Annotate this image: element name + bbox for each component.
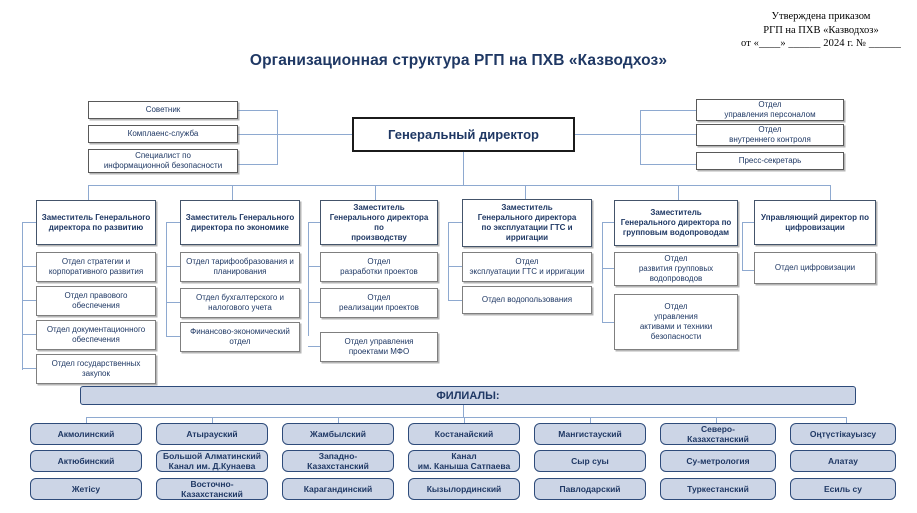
connector-stub-c4-1 <box>448 266 462 267</box>
branch-chip[interactable]: Западно- Казахстанский <box>282 450 394 472</box>
connector-spine-col2 <box>166 222 167 336</box>
connector-col-drop-5 <box>678 185 679 200</box>
right-unit-box-3[interactable]: Пресс-секретарь <box>696 152 844 170</box>
connector-director-to-right <box>574 134 640 135</box>
dept-label-4-2: Отдел водопользования <box>482 295 572 305</box>
branch-chip[interactable]: Оңтүстікауызсу <box>790 423 896 445</box>
right-unit-label-2: Отдел внутреннего контроля <box>729 125 811 145</box>
deputy-head-5[interactable]: Заместитель Генерального директора по гр… <box>614 200 738 246</box>
dept-box-4-2[interactable]: Отдел водопользования <box>462 286 592 314</box>
branch-label: Костанайский <box>435 429 493 439</box>
connector-branch-bus <box>86 417 846 418</box>
right-unit-label-1: Отдел управления персоналом <box>724 100 815 120</box>
advisor-box-3[interactable]: Специалист по информационной безопасност… <box>88 149 238 173</box>
dept-box-1-1[interactable]: Отдел стратегии и корпоративного развити… <box>36 252 156 282</box>
connector-right-1 <box>640 110 696 111</box>
connector-col-drop-2 <box>232 185 233 200</box>
advisor-label-3: Специалист по информационной безопасност… <box>104 151 222 171</box>
connector-stub-c4-2 <box>448 300 462 301</box>
deputy-head-1[interactable]: Заместитель Генерального директора по ра… <box>36 200 156 245</box>
connector-stub-c6-1 <box>742 270 754 271</box>
branch-chip[interactable]: Туркестанский <box>660 478 776 500</box>
branch-label: Акмолинский <box>58 429 115 439</box>
branch-chip[interactable]: Атырауский <box>156 423 268 445</box>
dept-box-3-1[interactable]: Отдел разработки проектов <box>320 252 438 282</box>
connector-stub-c3-0 <box>308 222 320 223</box>
branch-label: Актюбинский <box>58 456 115 466</box>
dept-box-1-4[interactable]: Отдел государственных закупок <box>36 354 156 384</box>
branch-label: Атырауский <box>186 429 237 439</box>
branch-chip[interactable]: Костанайский <box>408 423 520 445</box>
branch-chip[interactable]: Есиль су <box>790 478 896 500</box>
deputy-head-label-4: Заместитель Генерального директора по эк… <box>478 203 577 243</box>
dept-label-3-1: Отдел разработки проектов <box>340 257 418 277</box>
connector-stub-c2-3 <box>166 336 180 337</box>
dept-box-5-2[interactable]: Отдел управления активами и техники безо… <box>614 294 738 350</box>
connector-filialy-down <box>463 404 464 418</box>
right-unit-label-3: Пресс-секретарь <box>739 156 802 166</box>
connector-stub-c3-2 <box>308 302 320 303</box>
dept-label-5-2: Отдел управления активами и техники безо… <box>640 302 712 342</box>
branches-banner: ФИЛИАЛЫ: <box>80 386 856 405</box>
dept-label-6-1: Отдел цифровизации <box>775 263 855 273</box>
connector-col-drop-6 <box>830 185 831 200</box>
connector-stub-c5-2 <box>602 322 614 323</box>
connector-stub-c2-0 <box>166 222 180 223</box>
deputy-head-2[interactable]: Заместитель Генерального директора по эк… <box>180 200 300 245</box>
dept-box-6-1[interactable]: Отдел цифровизации <box>754 252 876 284</box>
branch-label: Жетісу <box>72 484 100 494</box>
approval-line-3: от «____» ______ 2024 г. № ______ <box>741 37 901 51</box>
dept-box-2-2[interactable]: Отдел бухгалтерского и налогового учета <box>180 288 300 318</box>
connector-advisor-3 <box>237 164 278 165</box>
branch-chip[interactable]: Сыр суы <box>534 450 646 472</box>
branch-chip[interactable]: Жамбылский <box>282 423 394 445</box>
connector-stub-c5-1 <box>602 268 614 269</box>
general-director-box[interactable]: Генеральный директор <box>352 117 575 152</box>
branch-chip[interactable]: Северо- Казахстанский <box>660 423 776 445</box>
branch-label: Восточно- Казахстанский <box>181 479 243 499</box>
branch-label: Су-метрология <box>686 456 749 466</box>
connector-right-2 <box>640 134 696 135</box>
right-unit-box-1[interactable]: Отдел управления персоналом <box>696 99 844 121</box>
approval-line-2: РГП на ПХВ «Казводхоз» <box>741 24 901 38</box>
page-title: Организационная структура РГП на ПХВ «Ка… <box>0 52 917 70</box>
connector-left-spine <box>277 110 278 165</box>
connector-spine-col1 <box>22 222 23 370</box>
connector-stub-c3-1 <box>308 266 320 267</box>
deputy-head-label-2: Заместитель Генерального директора по эк… <box>186 213 295 233</box>
connector-spine-col3 <box>308 222 309 336</box>
connector-stub-c2-1 <box>166 266 180 267</box>
connector-director-down <box>463 152 464 185</box>
connector-stub-c1-4 <box>22 368 36 369</box>
connector-stub-c4-0 <box>448 222 462 223</box>
connector-spine-col6 <box>742 222 743 270</box>
branch-chip[interactable]: Восточно- Казахстанский <box>156 478 268 500</box>
dept-label-3-2: Отдел реализации проектов <box>339 293 419 313</box>
deputy-head-3[interactable]: Заместитель Генерального директора по пр… <box>320 200 438 245</box>
branch-label: Северо- Казахстанский <box>687 424 749 444</box>
right-unit-box-2[interactable]: Отдел внутреннего контроля <box>696 124 844 146</box>
deputy-head-label-6: Управляющий директор по цифровизации <box>761 213 869 233</box>
branch-label: Канал им. Каныша Сатпаева <box>418 451 510 471</box>
branch-chip[interactable]: Су-метрология <box>660 450 776 472</box>
deputy-head-6[interactable]: Управляющий директор по цифровизации <box>754 200 876 245</box>
dept-box-1-3[interactable]: Отдел документационного обеспечения <box>36 320 156 350</box>
deputy-head-label-5: Заместитель Генерального директора по гр… <box>621 208 732 238</box>
branch-chip[interactable]: Мангистауский <box>534 423 646 445</box>
connector-right-3 <box>640 164 696 165</box>
connector-stub-c2-2 <box>166 302 180 303</box>
branch-chip[interactable]: Карагандинский <box>282 478 394 500</box>
dept-label-1-4: Отдел государственных закупок <box>52 359 141 379</box>
dept-box-2-1[interactable]: Отдел тарифообразования и планирования <box>180 252 300 282</box>
branch-label: Карагандинский <box>304 484 373 494</box>
dept-label-1-1: Отдел стратегии и корпоративного развити… <box>49 257 143 277</box>
connector-spine-col4 <box>448 222 449 300</box>
connector-advisor-2 <box>237 134 278 135</box>
dept-box-3-3[interactable]: Отдел управления проектами МФО <box>320 332 438 362</box>
dept-box-5-1[interactable]: Отдел развития групповых водопроводов <box>614 252 738 286</box>
deputy-head-4[interactable]: Заместитель Генерального директора по эк… <box>462 199 592 247</box>
connector-stub-c5-0 <box>602 222 614 223</box>
branch-label: Мангистауский <box>558 429 621 439</box>
branch-label: Павлодарский <box>559 484 620 494</box>
dept-label-2-2: Отдел бухгалтерского и налогового учета <box>196 293 284 313</box>
connector-left-to-director <box>277 134 352 135</box>
connector-stub-c1-0 <box>22 222 36 223</box>
branch-chip[interactable]: Большой Алматинский Канал им. Д.Кунаева <box>156 450 268 472</box>
branch-chip[interactable]: Кызылординский <box>408 478 520 500</box>
connector-stub-c1-3 <box>22 334 36 335</box>
connector-stub-c6-0 <box>742 222 754 223</box>
branch-chip[interactable]: Актюбинский <box>30 450 142 472</box>
dept-label-1-3: Отдел документационного обеспечения <box>47 325 145 345</box>
branch-label: Оңтүстікауызсу <box>810 429 876 439</box>
connector-spine-col5 <box>602 222 603 322</box>
dept-label-5-1: Отдел развития групповых водопроводов <box>639 254 713 284</box>
branch-label: Кызылординский <box>427 484 502 494</box>
branch-chip[interactable]: Канал им. Каныша Сатпаева <box>408 450 520 472</box>
general-director-label: Генеральный директор <box>388 130 539 140</box>
branch-label: Есиль су <box>824 484 862 494</box>
deputy-head-label-1: Заместитель Генерального директора по ра… <box>42 213 151 233</box>
dept-label-3-3: Отдел управления проектами МФО <box>345 337 414 357</box>
connector-stub-c1-1 <box>22 266 36 267</box>
approval-header: Утверждена приказом РГП на ПХВ «Казводхо… <box>741 10 901 51</box>
branch-label: Туркестанский <box>687 484 749 494</box>
branch-chip[interactable]: Алатау <box>790 450 896 472</box>
branch-label: Сыр суы <box>571 456 609 466</box>
branch-label: Западно- Казахстанский <box>307 451 369 471</box>
dept-label-2-1: Отдел тарифообразования и планирования <box>186 257 294 277</box>
connector-col-drop-4 <box>525 185 526 200</box>
dept-box-4-1[interactable]: Отдел эксплуатации ГТС и ирригации <box>462 252 592 282</box>
branch-chip[interactable]: Павлодарский <box>534 478 646 500</box>
dept-label-1-2: Отдел правового обеспечения <box>64 291 127 311</box>
branch-label: Алатау <box>828 456 858 466</box>
dept-label-2-3: Финансово-экономический отдел <box>190 327 290 347</box>
advisor-box-2[interactable]: Комплаенс-служба <box>88 125 238 143</box>
connector-advisor-1 <box>237 110 278 111</box>
dept-box-3-2[interactable]: Отдел реализации проектов <box>320 288 438 318</box>
dept-box-1-2[interactable]: Отдел правового обеспечения <box>36 286 156 316</box>
dept-box-2-3[interactable]: Финансово-экономический отдел <box>180 322 300 352</box>
deputy-head-label-3: Заместитель Генерального директора по пр… <box>324 203 434 243</box>
advisor-label-1: Советник <box>146 105 181 115</box>
advisor-label-2: Комплаенс-служба <box>128 129 199 139</box>
org-chart-page: Утверждена приказом РГП на ПХВ «Казводхо… <box>0 0 917 513</box>
advisor-box-1[interactable]: Советник <box>88 101 238 119</box>
branches-banner-label: ФИЛИАЛЫ: <box>436 390 499 402</box>
dept-label-4-1: Отдел эксплуатации ГТС и ирригации <box>469 257 584 277</box>
branch-chip[interactable]: Акмолинский <box>30 423 142 445</box>
connector-deputy-bus <box>88 185 830 186</box>
branch-label: Большой Алматинский Канал им. Д.Кунаева <box>163 451 261 471</box>
branch-label: Жамбылский <box>310 429 366 439</box>
connector-right-spine <box>640 110 641 165</box>
connector-stub-c3-3 <box>308 346 320 347</box>
connector-stub-c1-2 <box>22 300 36 301</box>
approval-line-1: Утверждена приказом <box>741 10 901 24</box>
connector-col-drop-1 <box>88 185 89 200</box>
connector-col-drop-3 <box>375 185 376 200</box>
branch-chip[interactable]: Жетісу <box>30 478 142 500</box>
